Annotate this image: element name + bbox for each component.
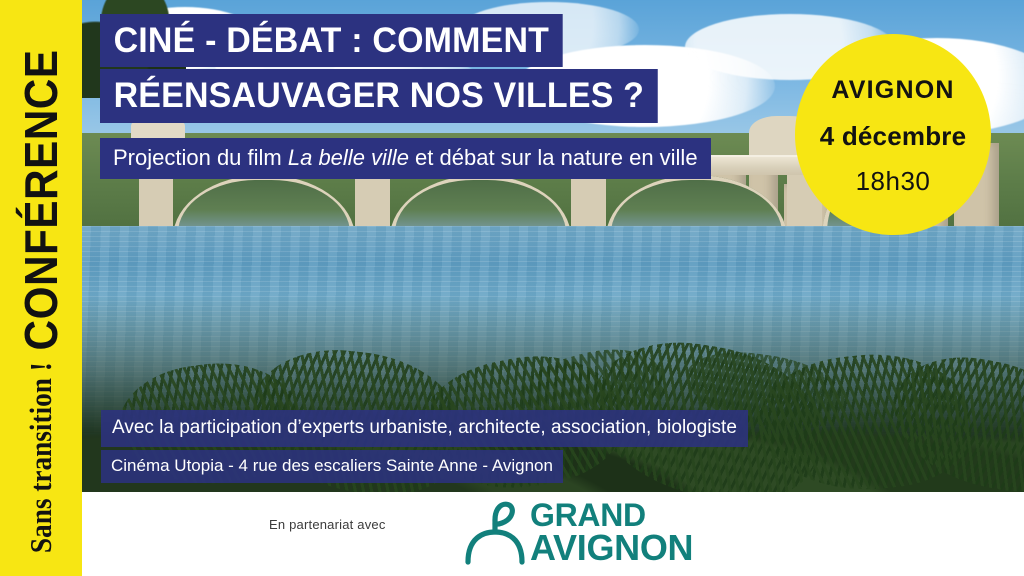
film-title: La belle ville (288, 145, 409, 170)
subtitle-before: Projection du film (113, 145, 288, 170)
event-poster: CINÉ - DÉBAT : COMMENT RÉENSAUVAGER NOS … (0, 0, 1024, 576)
logo-line-2: AVIGNON (530, 531, 693, 564)
badge-date: 4 décembre (820, 121, 967, 152)
poster-title: CINÉ - DÉBAT : COMMENT RÉENSAUVAGER NOS … (100, 14, 675, 123)
venue-band: Cinéma Utopia - 4 rue des escaliers Sain… (101, 450, 563, 483)
vertical-yellow-sidebar: CONFÉRENCE Sans transition ! (0, 0, 82, 576)
footer: En partenariat avec GRAND AVIGNON (82, 492, 1024, 576)
bridge-pier (355, 175, 390, 233)
date-badge: AVIGNON 4 décembre 18h30 (795, 34, 991, 235)
grand-avignon-logo-text: GRAND AVIGNON (530, 501, 693, 564)
badge-time: 18h30 (856, 166, 931, 197)
partner-label: En partenariat avec (269, 517, 386, 532)
subtitle-after: et débat sur la nature en ville (409, 145, 698, 170)
poster-subtitle: Projection du film La belle ville et déb… (100, 138, 711, 179)
sidebar-rotated-tagline-wrap: Sans transition ! (0, 0, 82, 576)
grand-avignon-logo: GRAND AVIGNON (464, 498, 693, 568)
bridge-pier (571, 175, 606, 233)
badge-city: AVIGNON (831, 76, 954, 105)
grand-avignon-logo-mark (464, 498, 526, 568)
experts-band: Avec la participation d’experts urbanist… (101, 410, 748, 447)
sidebar-tagline: Sans transition ! (0, 362, 82, 576)
bridge-pier (139, 175, 174, 233)
title-line-2: RÉENSAUVAGER NOS VILLES ? (100, 69, 658, 122)
title-line-1: CINÉ - DÉBAT : COMMENT (100, 14, 563, 67)
